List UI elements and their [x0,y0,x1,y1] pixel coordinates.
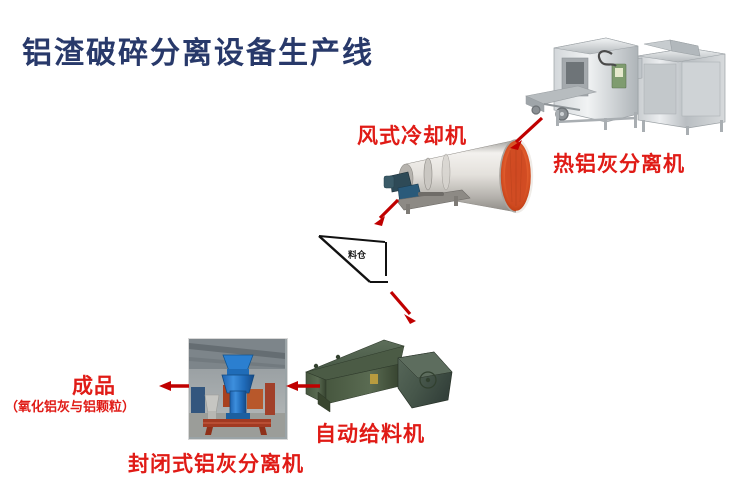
hot-aluminum-ash-separator-image [520,18,735,136]
arrow-cooler-to-hopper [368,196,408,240]
air-cooler-label: 风式冷却机 [357,120,467,150]
page-title: 铝渣破碎分离设备生产线 [22,28,374,72]
arrow-hopper-to-feeder [386,288,426,334]
hopper-outline-icon [316,232,404,290]
diagram-canvas: 铝渣破碎分离设备生产线 [0,0,750,500]
enclosed-separator-image [188,338,288,440]
arrow-hot-separator-to-cooler [500,112,548,160]
arrow-separator-to-product [157,378,191,398]
auto-feeder-label: 自动给料机 [315,418,425,448]
auto-feeder-image [300,330,460,422]
finished-product-sublabel: （氧化铝灰与铝颗粒） [5,396,135,415]
hot-separator-label: 热铝灰分离机 [553,148,685,178]
enclosed-separator-label: 封闭式铝灰分离机 [128,448,304,478]
hopper-label: 料仓 [348,248,366,261]
arrow-feeder-to-separator [284,378,322,398]
